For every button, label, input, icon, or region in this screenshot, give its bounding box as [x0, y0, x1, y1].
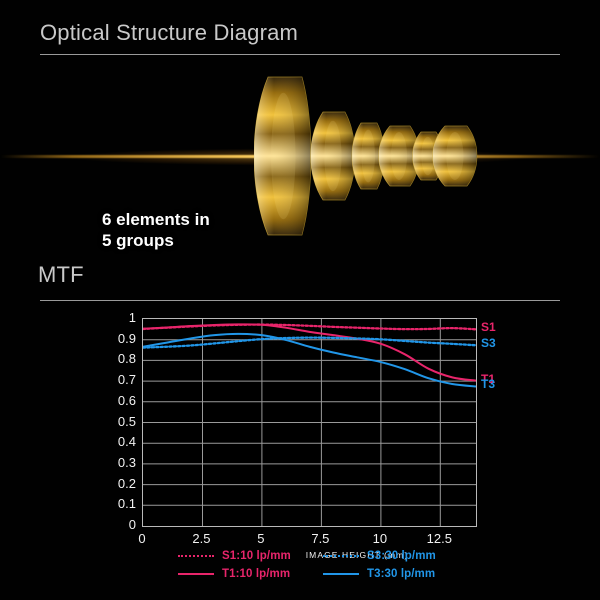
chart-legend: S1:10 lp/mmT1:10 lp/mmS3:30 lp/mmT3:30 l…: [0, 548, 600, 594]
x-tick-label: 5: [231, 531, 291, 546]
y-tick-label: 0: [129, 517, 136, 532]
lens-caption-line-2: 5 groups: [102, 230, 210, 251]
y-tick-label: 0.2: [118, 476, 136, 491]
lens-cross-section-diagram: 6 elements in 5 groups: [0, 64, 600, 254]
curve-label-t3: T3: [481, 377, 495, 391]
curve-label-s3: S3: [481, 336, 496, 350]
mtf-heading: MTF: [38, 262, 84, 288]
optical-structure-heading: Optical Structure Diagram: [40, 20, 298, 46]
x-tick-label: 0: [112, 531, 172, 546]
legend-item: T1:10 lp/mm: [178, 568, 290, 580]
legend-swatch: [178, 555, 214, 557]
y-tick-label: 0.7: [118, 372, 136, 387]
legend-swatch: [178, 573, 214, 575]
y-tick-label: 0.8: [118, 351, 136, 366]
element-6-rear: [431, 119, 481, 193]
y-tick-label: 0.1: [118, 496, 136, 511]
x-tick-label: 2.5: [171, 531, 231, 546]
mtf-plot-area: [142, 318, 477, 527]
x-tick-label: 10: [350, 531, 410, 546]
legend-label: T3:30 lp/mm: [367, 568, 435, 580]
legend-swatch: [323, 573, 359, 575]
y-tick-label: 0.5: [118, 414, 136, 429]
y-tick-label: 0.9: [118, 331, 136, 346]
lens-caption-line-1: 6 elements in: [102, 209, 210, 230]
x-tick-label: 7.5: [290, 531, 350, 546]
y-tick-label: 0.3: [118, 455, 136, 470]
legend-label: S1:10 lp/mm: [222, 550, 291, 562]
legend-swatch: [323, 555, 359, 557]
legend-label: S3:30 lp/mm: [367, 550, 436, 562]
mtf-chart: CONTRAST 00.10.20.30.40.50.60.70.80.91 0…: [0, 300, 600, 600]
y-tick-label: 0.4: [118, 434, 136, 449]
curve-label-s1: S1: [481, 320, 496, 334]
y-tick-label: 1: [129, 310, 136, 325]
element-1-front-large: [254, 70, 316, 242]
optical-heading-divider: [40, 54, 560, 55]
y-axis-ticks: 00.10.20.30.40.50.60.70.80.91: [96, 300, 136, 530]
optical-specs-page: Optical Structure Diagram 6 elements in …: [0, 0, 600, 600]
legend-item: S3:30 lp/mm: [323, 550, 436, 562]
y-tick-label: 0.6: [118, 393, 136, 408]
lens-element-caption: 6 elements in 5 groups: [102, 209, 210, 251]
legend-label: T1:10 lp/mm: [222, 568, 290, 580]
legend-item: S1:10 lp/mm: [178, 550, 291, 562]
x-tick-label: 12.5: [409, 531, 469, 546]
legend-item: T3:30 lp/mm: [323, 568, 435, 580]
